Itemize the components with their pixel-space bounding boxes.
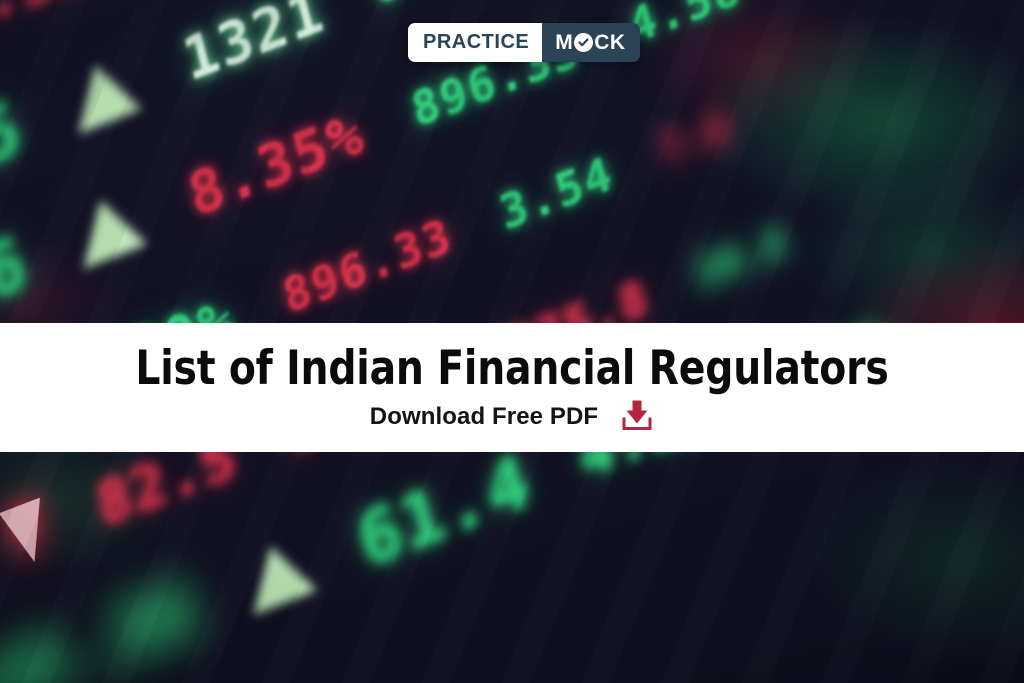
ticker-value: 3.54 (495, 150, 618, 237)
ticker-value: 896.33 (278, 212, 456, 321)
check-circle-icon (574, 33, 593, 52)
title-banner: List of Indian Financial Regulators Down… (0, 323, 1024, 452)
ticker-value: 20.5 (693, 225, 791, 294)
logo-mock-text-before: M (555, 31, 573, 55)
ticker-value: 1321 (177, 0, 330, 90)
page-title: List of Indian Financial Regulators (135, 341, 888, 396)
ticker-value: 4.58 (624, 0, 747, 50)
triangle-up-icon (238, 534, 317, 615)
logo-mock-text-after: CK (594, 31, 625, 55)
download-label: Download Free PDF (370, 403, 598, 431)
triangle-up-icon (69, 188, 148, 269)
triangle-down-icon (0, 498, 55, 570)
logo-practice-text: PRACTICE (408, 23, 542, 62)
triangle-up-icon (63, 53, 142, 134)
download-icon[interactable] (620, 400, 654, 435)
download-cta[interactable]: Download Free PDF (370, 400, 654, 435)
practicemock-logo[interactable]: PRACTICE M CK (408, 23, 640, 62)
screenshot-root: 3.68 6.35 5.36% 3.69 56.96 18.2 +80.25 1… (0, 0, 1024, 683)
ticker-value: 7.6 (658, 110, 734, 170)
logo-mock-block: M CK (542, 23, 639, 62)
